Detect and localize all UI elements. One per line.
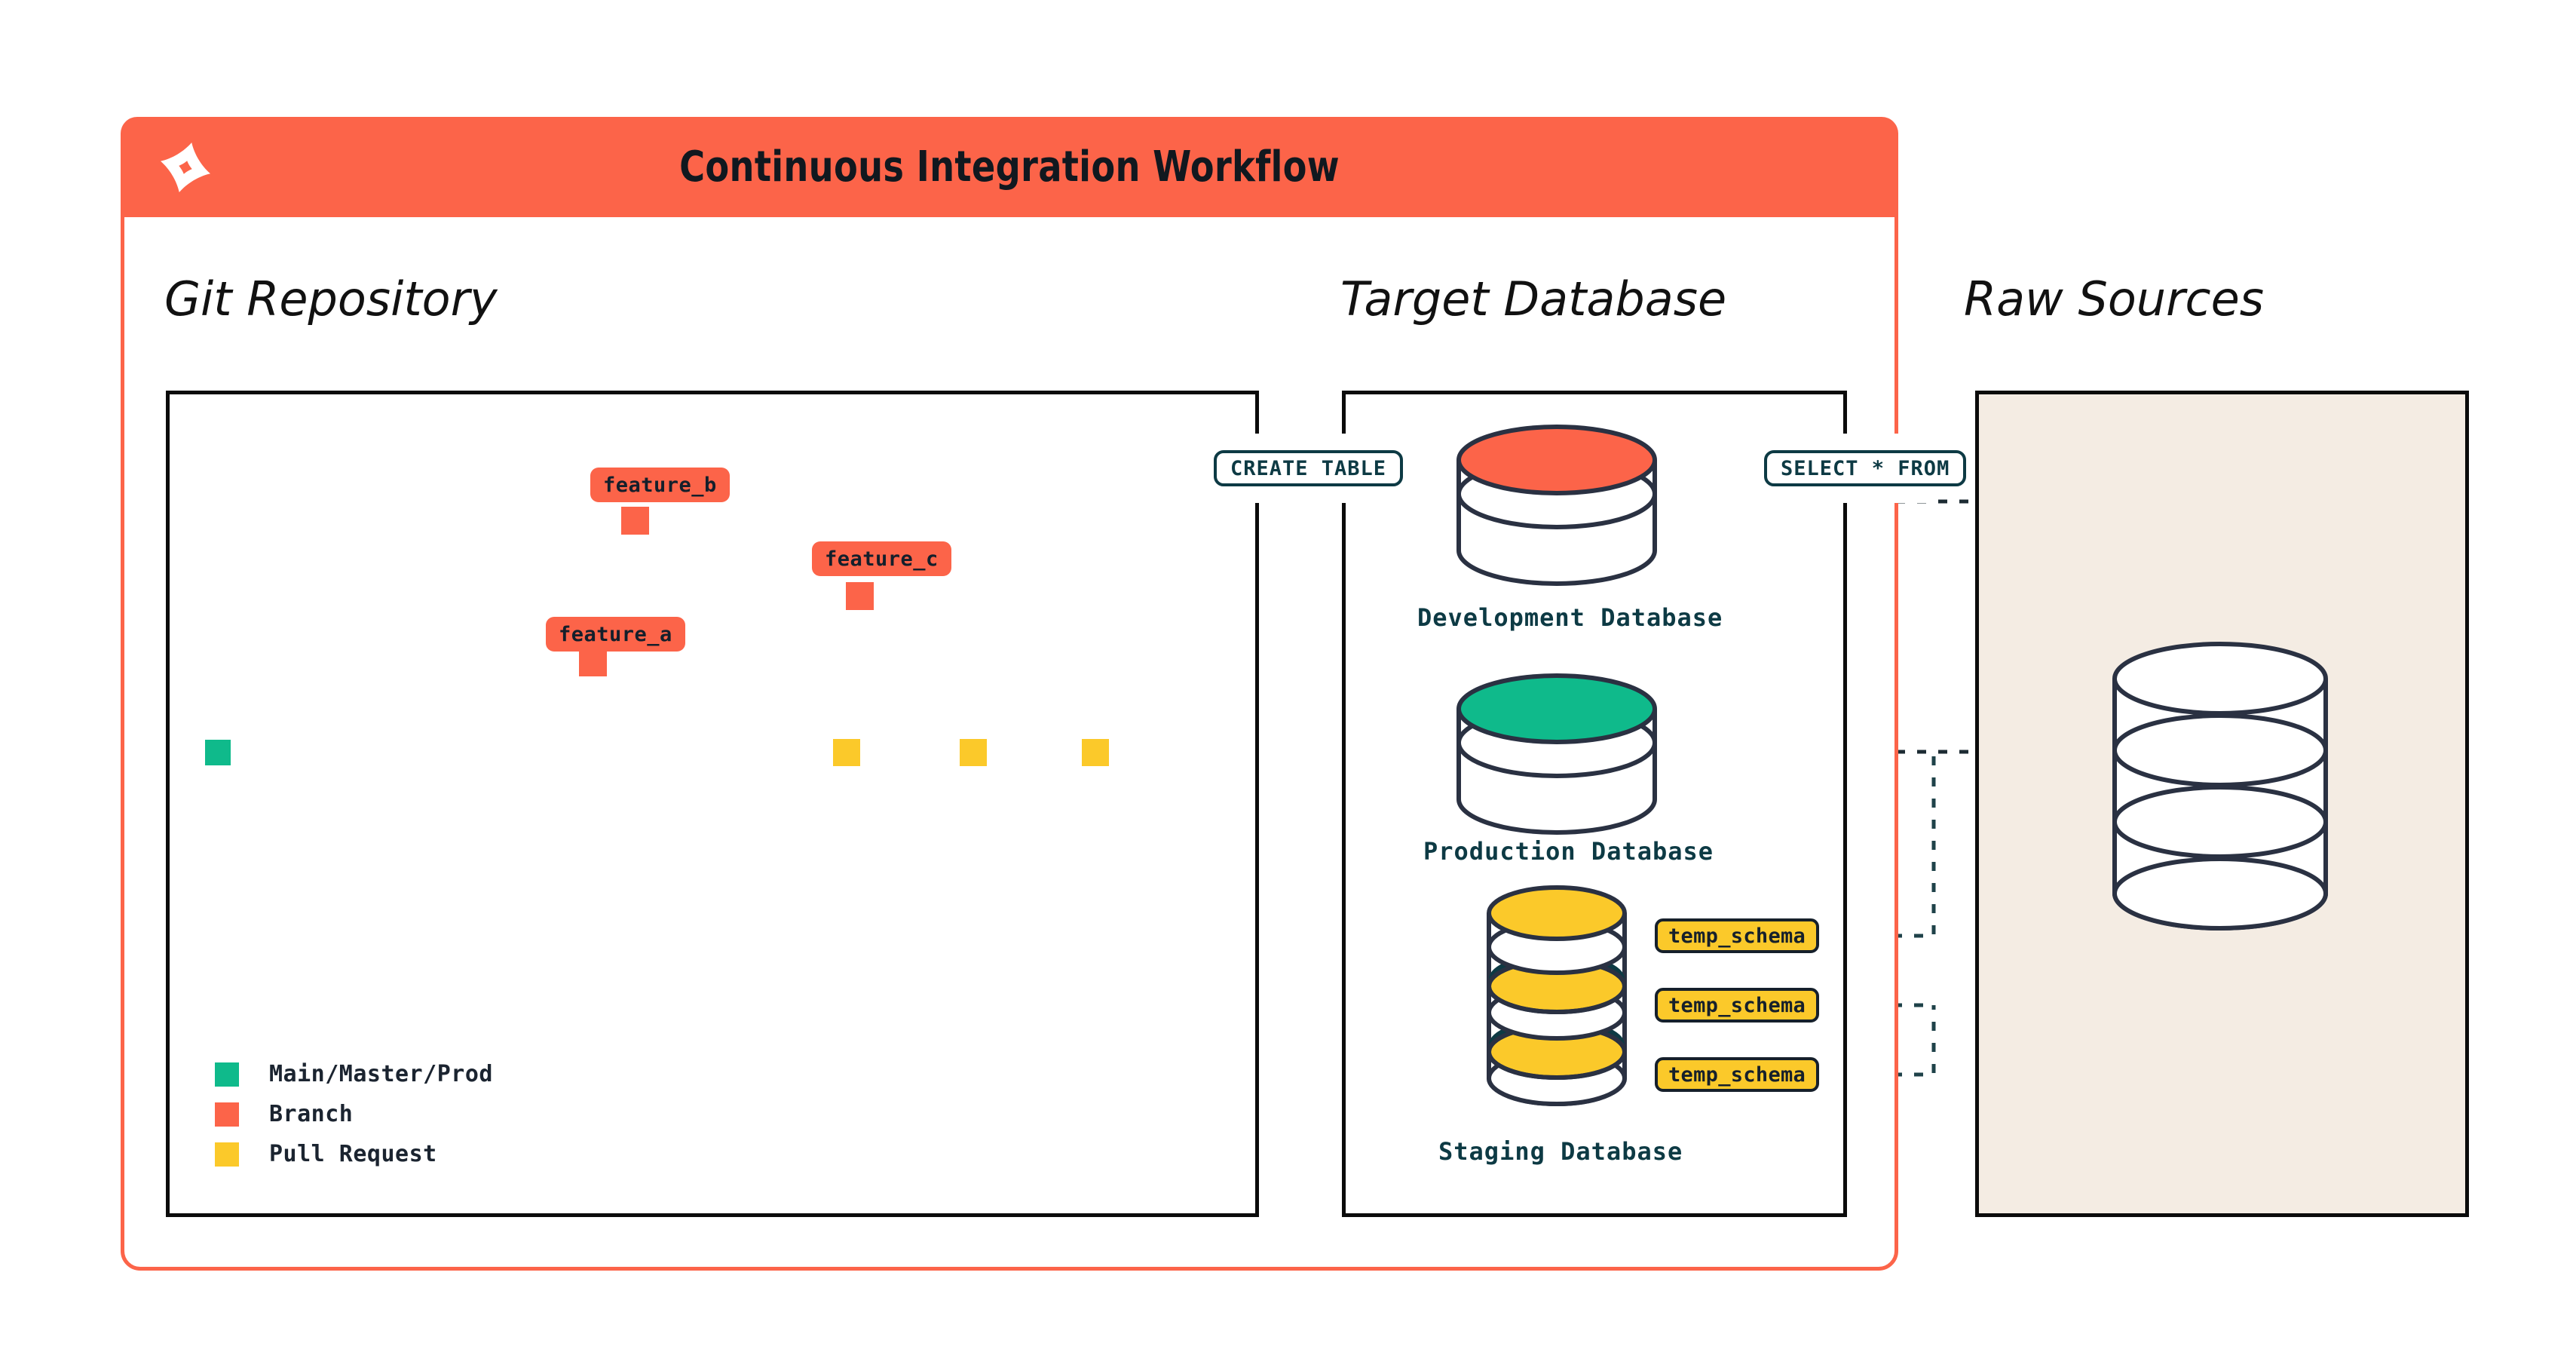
legend-swatch-main [215,1062,239,1087]
db-label-staging: Staging Database [1438,1137,1683,1166]
legend-swatch-branch [215,1102,239,1127]
legend-label-branch: Branch [269,1101,353,1127]
legend-item-branch: Branch [215,1094,493,1134]
legend-swatch-pr [215,1142,239,1167]
legend-label-main: Main/Master/Prod [269,1061,493,1087]
legend-item-pr: Pull Request [215,1134,493,1174]
raw-source-cylinder[interactable] [2115,644,2326,928]
development-database-cylinder[interactable] [1459,427,1655,584]
db-label-production: Production Database [1423,837,1714,866]
legend-item-main: Main/Master/Prod [215,1054,493,1094]
schema-badge-2[interactable]: temp_schema [1655,988,1819,1023]
staging-database-cylinder[interactable] [1489,888,1625,1104]
legend-label-pr: Pull Request [269,1141,437,1167]
diagram-canvas: Continuous Integration Workflow Git Repo… [0,0,2576,1346]
schema-badge-1[interactable]: temp_schema [1655,918,1819,953]
legend: Main/Master/Prod Branch Pull Request [215,1054,493,1174]
db-label-development: Development Database [1417,603,1723,632]
production-database-cylinder[interactable] [1459,676,1655,832]
schema-badge-3[interactable]: temp_schema [1655,1057,1819,1092]
